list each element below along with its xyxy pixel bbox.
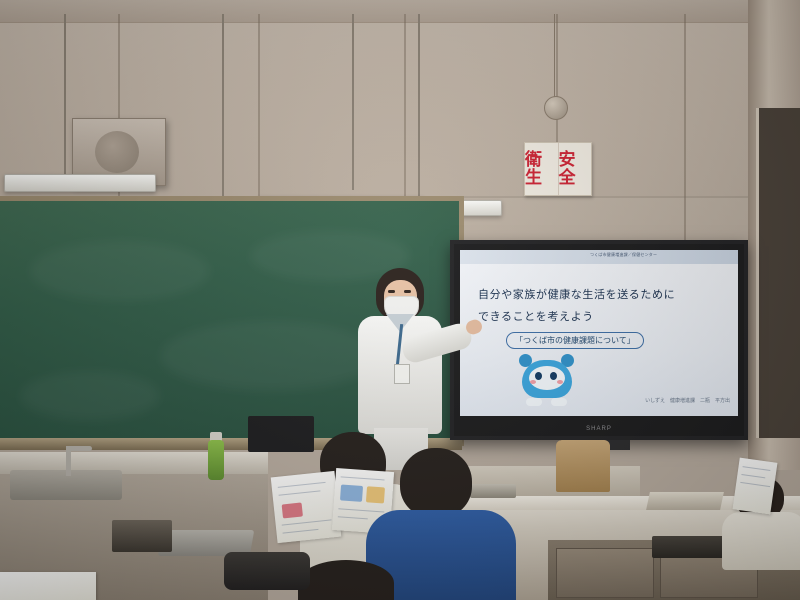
teacher-eye-left: [388, 290, 395, 293]
wall-seam: [404, 14, 406, 200]
teacher-eye-right: [404, 290, 411, 293]
worksheet-line: [278, 482, 326, 488]
black-pencil-case[interactable]: [224, 552, 310, 590]
mascot-eye-left: [535, 372, 542, 380]
worksheet-line: [743, 466, 771, 471]
safety-sign-right-text: 安全: [559, 143, 592, 195]
wall-top-band: [0, 0, 800, 23]
printed-worksheet-handout[interactable]: [733, 458, 778, 515]
green-drink-bottle[interactable]: [208, 440, 224, 480]
worksheet-line: [283, 529, 319, 534]
wall-mounted-flat-panel-tv[interactable]: つくば市健康増進課／保健センター 自分や家族が健康な生活を送るために できること…: [450, 240, 748, 440]
mascot-foot-right: [551, 398, 567, 406]
student-foreground-head: [298, 560, 418, 600]
safety-sign: 衛生 安全: [524, 142, 592, 196]
worksheet-graphic: [340, 484, 363, 501]
tv-brand-label: SHARP: [586, 426, 612, 432]
worksheet-line: [741, 474, 765, 478]
mascot-cheek-right: [557, 380, 563, 384]
light-rod: [64, 14, 66, 176]
chalk-smudge: [20, 371, 160, 421]
student-head: [400, 448, 472, 518]
light-rod: [352, 14, 354, 190]
wooden-chair[interactable]: [556, 440, 610, 492]
light-rod: [222, 14, 224, 200]
presentation-slide: つくば市健康増進課／保健センター 自分や家族が健康な生活を送るために できること…: [460, 250, 738, 416]
light-rod: [418, 14, 420, 204]
printed-worksheet-handout[interactable]: [271, 471, 342, 543]
light-fixture-left: [4, 174, 156, 192]
slide-title-line1: 自分や家族が健康な生活を送るために: [478, 286, 675, 302]
safety-sign-left-text: 衛生: [525, 143, 558, 195]
wall-seam: [258, 14, 260, 200]
student-shirt: [722, 512, 800, 570]
slide-header-note: つくば市健康増進課／保健センター: [590, 252, 657, 258]
slide-subtitle-box: 「つくば市の健康課題について」: [506, 332, 644, 349]
chalk-smudge: [30, 241, 210, 301]
slide-title-line2: できることを考えよう: [478, 308, 594, 324]
name-badge: [394, 364, 410, 384]
mascot-face: [529, 366, 565, 390]
wall-seam: [556, 14, 558, 144]
classroom-door[interactable]: [756, 108, 800, 438]
cabinet-door[interactable]: [556, 548, 654, 598]
pendant-wire: [554, 14, 555, 98]
ceiling-pendant-speaker: [544, 96, 568, 120]
desk-equipment: [112, 520, 172, 552]
faucet[interactable]: [66, 446, 71, 476]
worksheet-line: [279, 490, 321, 495]
mascot-eye-right: [550, 372, 557, 380]
mascot-foot-left: [526, 398, 542, 406]
speaker-grille-icon: [95, 131, 139, 173]
worksheet-line: [282, 519, 332, 525]
slide-footer-credit: いしずえ 健康増進課 二瓶 平方出: [645, 397, 730, 404]
worksheet-line: [338, 516, 368, 519]
classroom-photo: 衛生 安全 つくば市健康増進課／保健センター 自分や家族が健康な生活を送るために…: [0, 0, 800, 600]
worksheet-line: [740, 482, 770, 487]
loose-paper: [0, 572, 96, 600]
mascot-cheek-left: [530, 380, 536, 384]
frog-mascot-icon: [516, 352, 578, 408]
worksheet-graphic: [282, 502, 303, 518]
student-head: [298, 560, 394, 600]
